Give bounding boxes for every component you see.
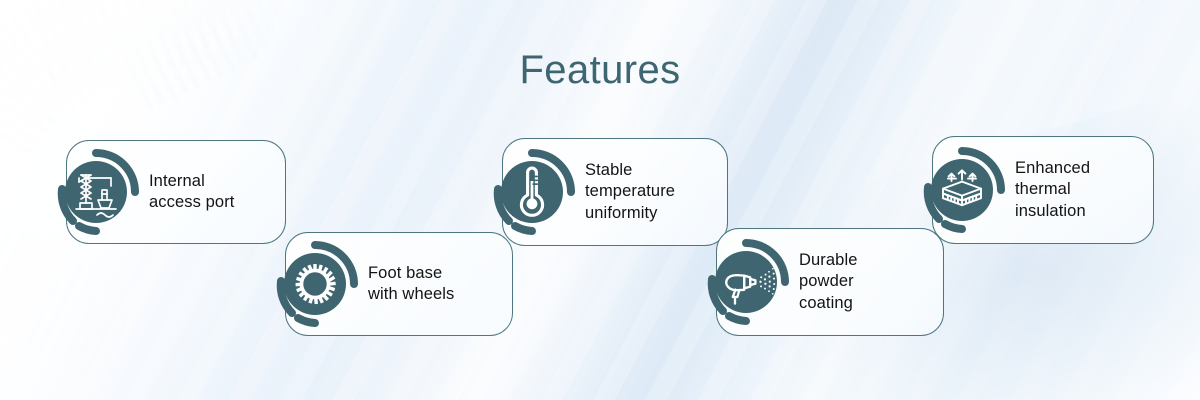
feature-card-foot-base-with-wheels[interactable]: Foot base with wheels (285, 232, 513, 336)
feature-card-stable-temperature-uniformity[interactable]: Stable temperature uniformity (502, 138, 728, 246)
port-crane-ship-icon (49, 145, 143, 239)
layered-insulation-icon (915, 143, 1009, 237)
feature-label: Internal access port (149, 171, 248, 214)
gear-wheel-icon (268, 237, 362, 331)
features-banner: Features (0, 0, 1200, 400)
spray-gun-icon (699, 235, 793, 329)
thermometer-icon (485, 145, 579, 239)
feature-card-internal-access-port[interactable]: Internal access port (66, 140, 286, 244)
feature-card-durable-powder-coating[interactable]: Durable powder coating (716, 228, 944, 336)
page-title: Features (0, 48, 1200, 93)
feature-label: Stable temperature uniformity (585, 160, 689, 224)
feature-label: Durable powder coating (799, 250, 871, 314)
feature-label: Enhanced thermal insulation (1015, 158, 1104, 222)
feature-label: Foot base with wheels (368, 263, 468, 306)
feature-card-enhanced-thermal-insulation[interactable]: Enhanced thermal insulation (932, 136, 1154, 244)
